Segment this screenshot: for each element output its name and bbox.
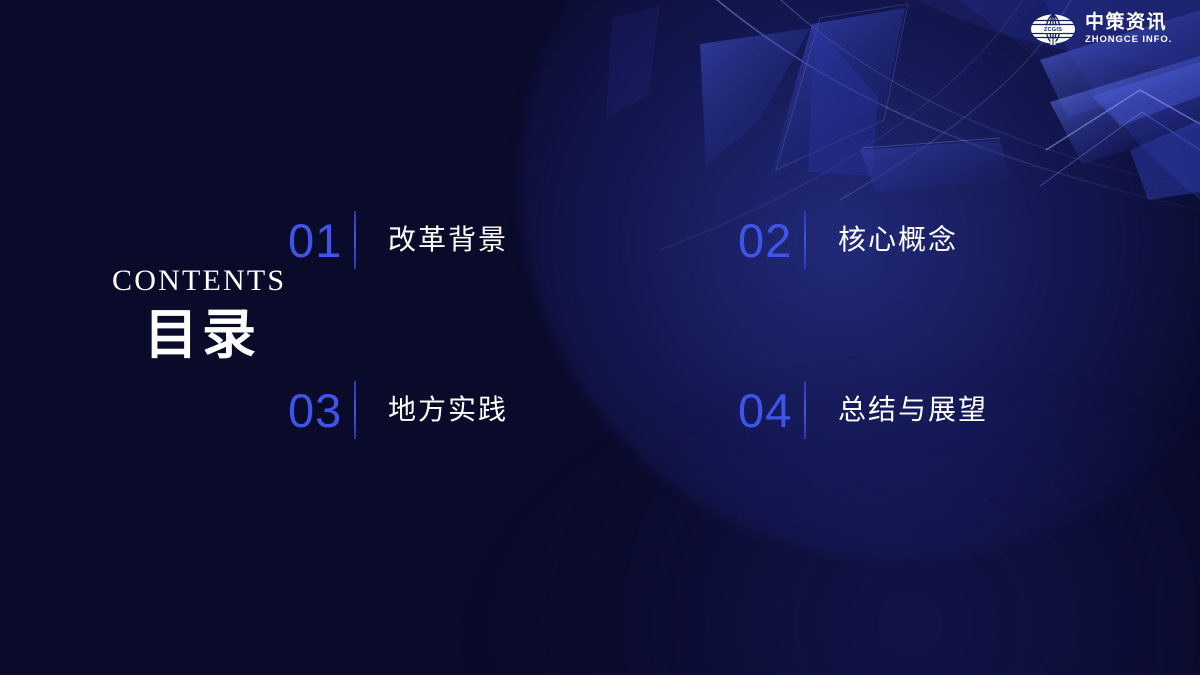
logo-name-cn: 中策资讯 (1085, 13, 1172, 32)
svg-text:ZCGIS: ZCGIS (1044, 27, 1062, 33)
contents-item-number: 02 (738, 217, 804, 264)
decoration-polygon-d (860, 140, 1012, 192)
contents-item-number: 03 (288, 387, 354, 434)
contents-item-label: 总结与展望 (838, 396, 988, 424)
contents-item-01[interactable]: 01 改革背景 (288, 200, 738, 280)
contents-item-label: 核心概念 (838, 226, 958, 254)
logo-wordmark: 中策资讯 ZHONGCE INFO. (1085, 13, 1172, 45)
contents-item-label: 改革背景 (388, 226, 508, 254)
contents-item-divider (804, 381, 806, 439)
contents-item-03[interactable]: 03 地方实践 (288, 370, 738, 450)
contents-item-number: 01 (288, 217, 354, 264)
contents-item-divider (354, 211, 356, 269)
contents-list: 01 改革背景 02 核心概念 03 地方实践 04 总结与展望 (288, 200, 1118, 540)
company-logo: ZCGIS 中策资讯 ZHONGCE INFO. (1030, 12, 1172, 46)
contents-item-04[interactable]: 04 总结与展望 (738, 370, 1118, 450)
contents-item-02[interactable]: 02 核心概念 (738, 200, 1118, 280)
zcgis-globe-icon: ZCGIS (1030, 12, 1076, 46)
contents-item-number: 04 (738, 387, 804, 434)
contents-item-divider (354, 381, 356, 439)
decoration-polygon-f (606, 6, 660, 118)
contents-item-divider (804, 211, 806, 269)
contents-item-label: 地方实践 (388, 396, 508, 424)
logo-name-en: ZHONGCE INFO. (1085, 35, 1172, 45)
presentation-slide: ZCGIS 中策资讯 ZHONGCE INFO. CONTENTS 目录 01 … (0, 0, 1200, 675)
